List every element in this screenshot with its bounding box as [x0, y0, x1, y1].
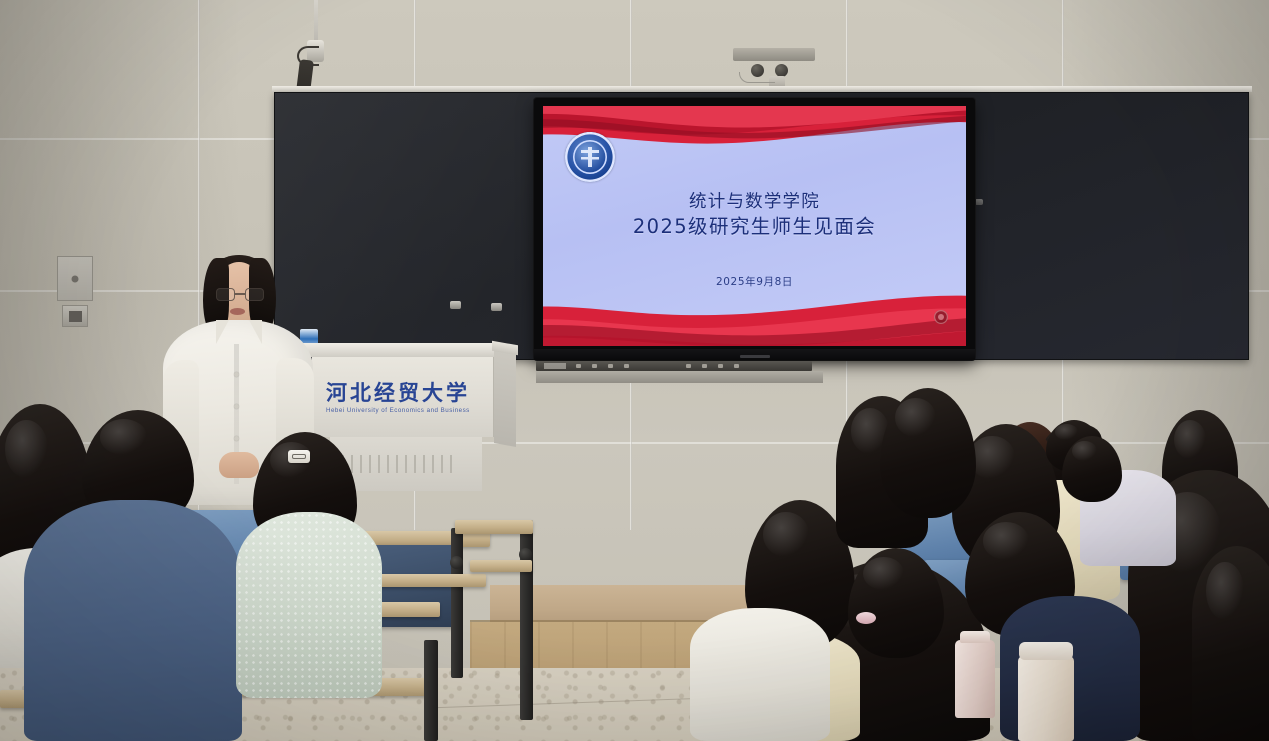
- floral-tumbler: [1018, 656, 1074, 741]
- wall-mounted-camera-bracket: [733, 48, 815, 61]
- control-button[interactable]: [608, 364, 613, 368]
- university-seal-logo: [565, 132, 615, 182]
- pink-thermos: [955, 640, 995, 718]
- presentation-display[interactable]: 统计与数学学院 2025级研究生师生见面会 2025年9月8日: [534, 98, 975, 360]
- seat-frame-post: [424, 640, 438, 741]
- tumbler-lid: [1019, 642, 1073, 660]
- wall-socket-plate: [62, 305, 88, 327]
- control-button[interactable]: [702, 364, 707, 368]
- blouse-button: [234, 372, 239, 377]
- classroom-photo-scene: 统计与数学学院 2025级研究生师生见面会 2025年9月8日 河北经贸大学 H…: [0, 0, 1269, 741]
- eyeglass-lens-right: [245, 288, 264, 301]
- hair-clip-detail: [292, 454, 306, 459]
- student-torso: [236, 512, 382, 698]
- display-mount-shelf: [536, 371, 823, 383]
- presenter-hands: [219, 452, 259, 478]
- student-torso: [24, 500, 242, 741]
- collar-left: [216, 320, 229, 344]
- eyeglasses-icon: [216, 288, 264, 301]
- seat-frame-knob: [450, 556, 463, 569]
- presenter-mouth: [230, 308, 245, 315]
- student-hair: [1192, 546, 1269, 741]
- camera-support-arm: [739, 72, 775, 83]
- hair-tie: [856, 612, 876, 624]
- slide-date: 2025年9月8日: [543, 274, 966, 289]
- presenter-collar: [212, 320, 266, 346]
- seal-watermark: [934, 310, 948, 324]
- podium-front-panel: 河北经贸大学 Hebei University of Economics and…: [312, 357, 494, 437]
- eyeglass-bridge: [235, 293, 245, 295]
- blouse-button: [234, 404, 239, 409]
- display-screen: 统计与数学学院 2025级研究生师生见面会 2025年9月8日: [543, 106, 966, 346]
- thermos-cap: [960, 631, 990, 643]
- seat-frame-post: [451, 528, 463, 678]
- control-label-plate: [544, 363, 566, 369]
- lecture-desk: [455, 520, 533, 534]
- podium-university-name-en: Hebei University of Economics and Busine…: [326, 407, 496, 414]
- podium-desktop: [300, 343, 498, 357]
- av-control-strip[interactable]: [536, 361, 812, 371]
- podium-university-name-cn: 河北经贸大学: [326, 377, 486, 407]
- control-button[interactable]: [576, 364, 581, 368]
- slide-bottom-wave-decoration: [543, 286, 966, 346]
- seal-arc-text: [565, 132, 615, 182]
- control-button[interactable]: [592, 364, 597, 368]
- podium-vent-slots: [342, 455, 454, 473]
- blackboard-magnet: [975, 199, 983, 205]
- blackboard-magnet: [491, 303, 502, 311]
- eyeglass-lens-left: [216, 288, 235, 301]
- collar-right: [249, 320, 262, 344]
- slide-title-line-2: 2025级研究生师生见面会: [543, 214, 966, 241]
- blackboard-magnet: [450, 301, 461, 309]
- wall-control-plate: [57, 256, 93, 301]
- control-button[interactable]: [686, 364, 691, 368]
- slide-title: 统计与数学学院 2025级研究生师生见面会: [543, 190, 966, 241]
- display-bottom-bezel: [534, 349, 975, 360]
- wall-socket-opening: [69, 311, 82, 322]
- slide-title-line-1: 统计与数学学院: [543, 190, 966, 214]
- wall-plate-dial: [72, 275, 79, 282]
- lecture-desk: [470, 560, 532, 572]
- control-button[interactable]: [718, 364, 723, 368]
- student-torso: [690, 608, 830, 741]
- podium-side-panel: [494, 349, 516, 447]
- control-button[interactable]: [734, 364, 739, 368]
- blouse-button: [234, 436, 239, 441]
- control-button[interactable]: [624, 364, 629, 368]
- lecture-desk: [378, 574, 486, 587]
- display-brand-mark: [740, 355, 770, 358]
- hair-clip: [288, 450, 310, 463]
